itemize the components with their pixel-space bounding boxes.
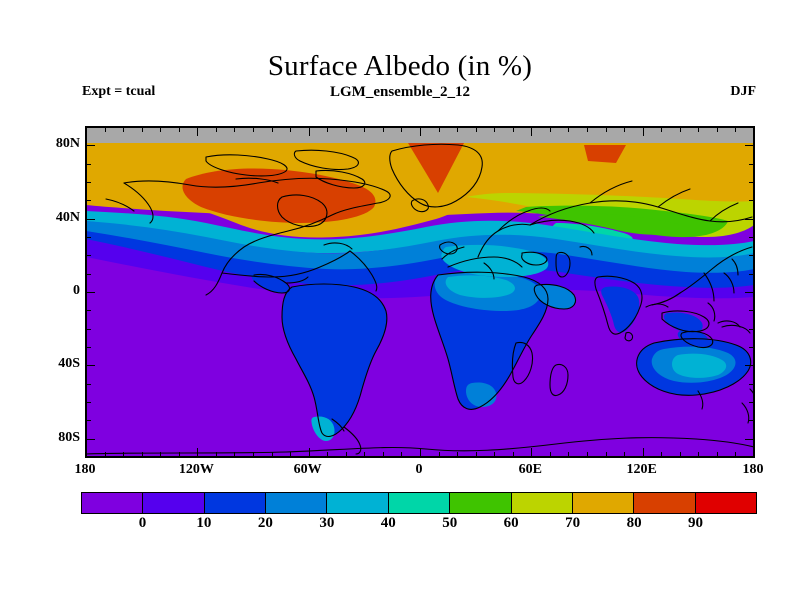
x-minor-tick: [216, 452, 217, 457]
colorbar-band: [266, 493, 327, 513]
x-tick-label: 0: [389, 462, 449, 478]
x-minor-tick: [364, 127, 365, 132]
x-minor-tick: [142, 127, 143, 132]
colorbar-tick-label: 50: [425, 515, 475, 532]
y-axis: 80N40N040S80S: [30, 126, 80, 456]
y-minor-tick: [749, 420, 754, 421]
x-major-tick: [531, 127, 532, 136]
page-title: Surface Albedo (in %): [0, 50, 800, 83]
y-minor-tick: [86, 402, 91, 403]
x-minor-tick: [346, 452, 347, 457]
x-tick-label: 120W: [166, 462, 226, 478]
y-minor-tick: [749, 347, 754, 348]
colorbar-tick-label: 90: [671, 515, 721, 532]
x-minor-tick: [680, 127, 681, 132]
colorbar-band: [512, 493, 573, 513]
x-tick-label: 60W: [278, 462, 338, 478]
x-minor-tick: [105, 452, 106, 457]
x-minor-tick: [253, 127, 254, 132]
y-major-tick: [86, 439, 95, 440]
map-plot-area: [85, 126, 755, 458]
season-label: DJF: [730, 84, 756, 100]
colorbar-tick-label: 60: [486, 515, 536, 532]
y-minor-tick: [749, 384, 754, 385]
x-minor-tick: [123, 452, 124, 457]
x-minor-tick: [216, 127, 217, 132]
y-minor-tick: [86, 384, 91, 385]
x-minor-tick: [160, 127, 161, 132]
x-minor-tick: [606, 127, 607, 132]
x-minor-tick: [661, 127, 662, 132]
x-minor-tick: [290, 452, 291, 457]
x-minor-tick: [160, 452, 161, 457]
x-minor-tick: [457, 127, 458, 132]
x-minor-tick: [364, 452, 365, 457]
x-minor-tick: [439, 127, 440, 132]
x-major-tick: [643, 448, 644, 457]
x-minor-tick: [513, 452, 514, 457]
x-minor-tick: [568, 452, 569, 457]
colorbar-band: [634, 493, 695, 513]
x-minor-tick: [401, 127, 402, 132]
y-major-tick: [745, 365, 754, 366]
x-minor-tick: [383, 127, 384, 132]
x-minor-tick: [735, 127, 736, 132]
x-major-tick: [197, 127, 198, 136]
colorbar-tick-label: 40: [363, 515, 413, 532]
x-minor-tick: [606, 452, 607, 457]
colorbar-tick-label: 80: [609, 515, 659, 532]
x-major-tick: [309, 127, 310, 136]
colorbar-band: [143, 493, 204, 513]
y-minor-tick: [749, 182, 754, 183]
y-minor-tick: [749, 310, 754, 311]
x-minor-tick: [550, 127, 551, 132]
experiment-label: Expt = tcual: [82, 84, 155, 100]
x-tick-label: 60E: [500, 462, 560, 478]
x-minor-tick: [698, 127, 699, 132]
y-major-tick: [745, 439, 754, 440]
x-minor-tick: [179, 452, 180, 457]
y-minor-tick: [86, 255, 91, 256]
x-major-tick: [420, 448, 421, 457]
colorbar-band: [573, 493, 634, 513]
x-minor-tick: [105, 127, 106, 132]
x-minor-tick: [234, 127, 235, 132]
x-minor-tick: [717, 127, 718, 132]
x-minor-tick: [550, 452, 551, 457]
colorbar-band: [327, 493, 388, 513]
y-minor-tick: [86, 420, 91, 421]
x-minor-tick: [234, 452, 235, 457]
colorbar-tick-labels: 0102030405060708090: [81, 515, 757, 537]
y-major-tick: [745, 145, 754, 146]
y-major-tick: [86, 365, 95, 366]
x-minor-tick: [717, 452, 718, 457]
colorbar-band: [450, 493, 511, 513]
y-minor-tick: [749, 402, 754, 403]
x-major-tick: [531, 448, 532, 457]
x-minor-tick: [568, 127, 569, 132]
colorbar-swatches: [81, 492, 757, 514]
y-minor-tick: [749, 255, 754, 256]
x-minor-tick: [253, 452, 254, 457]
colorbar-band: [205, 493, 266, 513]
y-major-tick: [745, 219, 754, 220]
x-major-tick: [420, 127, 421, 136]
x-minor-tick: [327, 452, 328, 457]
x-minor-tick: [327, 127, 328, 132]
x-minor-tick: [513, 127, 514, 132]
x-minor-tick: [494, 127, 495, 132]
x-minor-tick: [624, 127, 625, 132]
x-minor-tick: [457, 452, 458, 457]
y-tick-label: 80N: [34, 136, 80, 152]
x-minor-tick: [698, 452, 699, 457]
x-minor-tick: [624, 452, 625, 457]
x-minor-tick: [735, 452, 736, 457]
x-minor-tick: [587, 452, 588, 457]
colorbar-tick-label: 30: [302, 515, 352, 532]
x-minor-tick: [346, 127, 347, 132]
x-minor-tick: [439, 452, 440, 457]
x-minor-tick: [383, 452, 384, 457]
x-minor-tick: [680, 452, 681, 457]
y-major-tick: [86, 292, 95, 293]
y-tick-label: 40S: [34, 356, 80, 372]
y-tick-label: 40N: [34, 210, 80, 226]
colorbar-band: [389, 493, 450, 513]
y-minor-tick: [749, 237, 754, 238]
x-minor-tick: [272, 452, 273, 457]
y-minor-tick: [86, 310, 91, 311]
y-major-tick: [86, 219, 95, 220]
y-minor-tick: [86, 164, 91, 165]
y-major-tick: [745, 292, 754, 293]
y-minor-tick: [86, 274, 91, 275]
y-minor-tick: [86, 237, 91, 238]
colorbar-tick-label: 10: [179, 515, 229, 532]
y-minor-tick: [86, 329, 91, 330]
y-major-tick: [86, 145, 95, 146]
y-minor-tick: [86, 347, 91, 348]
x-minor-tick: [123, 127, 124, 132]
y-minor-tick: [749, 329, 754, 330]
x-minor-tick: [476, 452, 477, 457]
x-minor-tick: [142, 452, 143, 457]
colorbar: 0102030405060708090: [81, 492, 757, 514]
x-tick-label: 180: [723, 462, 783, 478]
x-minor-tick: [661, 452, 662, 457]
x-minor-tick: [272, 127, 273, 132]
x-minor-tick: [401, 452, 402, 457]
x-minor-tick: [476, 127, 477, 132]
albedo-map-figure: Surface Albedo (in %) LGM_ensemble_2_12 …: [0, 0, 800, 600]
x-minor-tick: [179, 127, 180, 132]
y-tick-label: 80S: [34, 430, 80, 446]
colorbar-tick-label: 0: [117, 515, 167, 532]
colorbar-band: [696, 493, 756, 513]
x-tick-label: 180: [55, 462, 115, 478]
x-minor-tick: [587, 127, 588, 132]
x-minor-tick: [290, 127, 291, 132]
x-tick-label: 120E: [612, 462, 672, 478]
y-minor-tick: [86, 200, 91, 201]
y-minor-tick: [749, 200, 754, 201]
x-axis: 180120W60W060E120E180: [85, 462, 753, 484]
x-minor-tick: [494, 452, 495, 457]
x-major-tick: [309, 448, 310, 457]
colorbar-tick-label: 20: [240, 515, 290, 532]
y-minor-tick: [749, 274, 754, 275]
y-tick-label: 0: [34, 283, 80, 299]
world-albedo-heatmap: [86, 127, 754, 457]
y-minor-tick: [749, 164, 754, 165]
colorbar-band: [82, 493, 143, 513]
colorbar-tick-label: 70: [548, 515, 598, 532]
y-minor-tick: [86, 182, 91, 183]
x-major-tick: [197, 448, 198, 457]
x-major-tick: [643, 127, 644, 136]
